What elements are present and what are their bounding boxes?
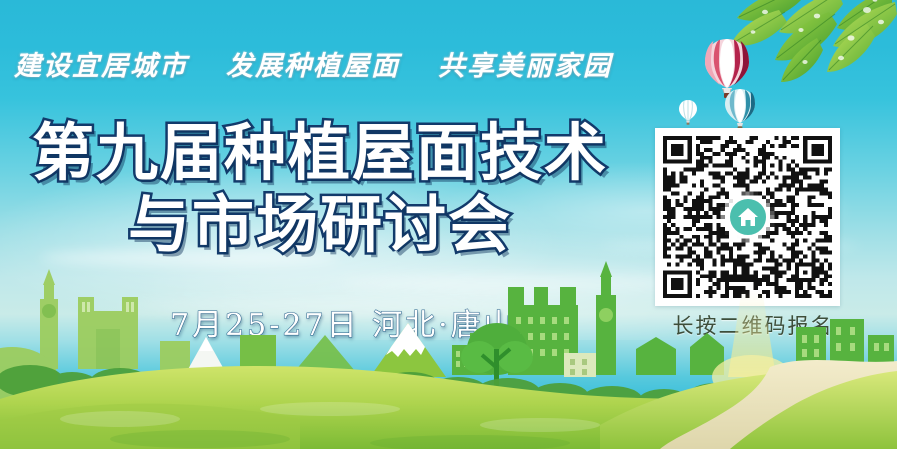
slogan-item-3: 共享美丽家园 (438, 44, 612, 83)
slogan-row: 建设宜居城市 发展种植屋面 共享美丽家园 (14, 44, 674, 83)
landscape-scene (0, 249, 897, 449)
hot-air-balloon-white (678, 99, 698, 125)
hot-air-balloon-teal (723, 88, 757, 130)
slogan-item-1: 建设宜居城市 (14, 44, 188, 83)
title-line-1: 第九届种植屋面技术 (0, 122, 640, 184)
page-title: 第九届种植屋面技术 与市场研讨会 (0, 122, 640, 256)
event-poster: 建设宜居城市 发展种植屋面 共享美丽家园 第九届种植屋面技术 与市场研讨会 7月… (0, 0, 897, 449)
slogan-item-2: 发展种植屋面 (226, 44, 400, 83)
title-line-2: 与市场研讨会 (0, 194, 640, 256)
home-icon (727, 196, 769, 238)
